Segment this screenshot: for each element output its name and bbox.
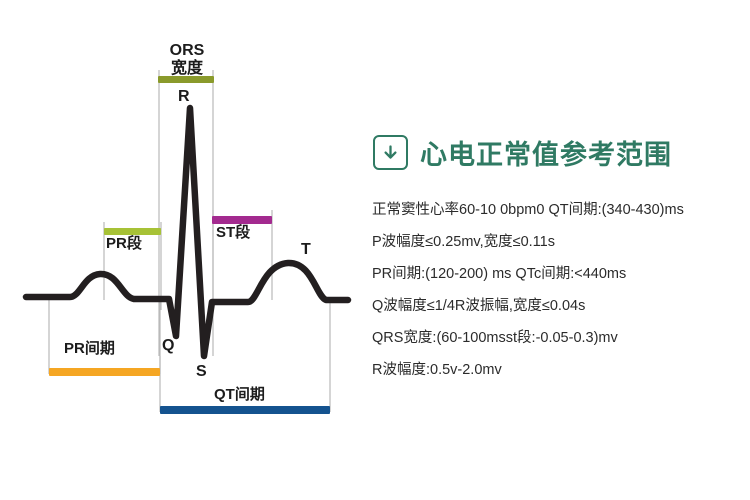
reference-value-line: 正常窦性心率60-10 0bpm0 QT间期:(340-430)ms: [372, 203, 747, 219]
qt-interval-label: QT间期: [214, 387, 265, 404]
qrs-width-label-line1: ORS: [162, 42, 212, 60]
reference-value-line: PR间期:(120-200) ms QTc间期:<440ms: [372, 267, 747, 283]
reference-value-line: QRS宽度:(60-100msst段:-0.05-0.3)mv: [372, 331, 747, 347]
reference-value-line: R波幅度:0.5v-2.0mv: [372, 363, 747, 379]
page-title: 心电正常值参考范围: [420, 133, 672, 172]
panel-title-row: 心电正常值参考范围: [373, 133, 672, 172]
wave-label-t: T: [301, 241, 311, 259]
wave-label-r: R: [178, 88, 190, 106]
pr-interval-bar: [49, 368, 160, 376]
qrs-width-label: ORS 宽度: [162, 42, 212, 78]
pr-interval-label: PR间期: [64, 341, 115, 358]
download-arrow-icon: [373, 135, 408, 170]
qt-interval-bar: [160, 406, 330, 414]
wave-label-q: Q: [162, 337, 174, 355]
ecg-reference-infographic: ORS 宽度 PR段 ST段 PR间期 QT间期 R Q S T 心电正常值参考…: [0, 0, 750, 500]
ecg-trace-path: [26, 108, 348, 356]
ecg-diagram-panel: ORS 宽度 PR段 ST段 PR间期 QT间期 R Q S T: [0, 0, 360, 500]
reference-values-panel: 心电正常值参考范围 正常窦性心率60-10 0bpm0 QT间期:(340-43…: [368, 0, 750, 500]
wave-label-s: S: [196, 363, 207, 381]
pr-segment-bar: [104, 228, 161, 235]
qrs-width-label-line2: 宽度: [162, 60, 212, 78]
reference-values-list: 正常窦性心率60-10 0bpm0 QT间期:(340-430)ms P波幅度≤…: [372, 203, 747, 395]
reference-value-line: Q波幅度≤1/4R波振幅,宽度≤0.04s: [372, 299, 747, 315]
st-segment-bar: [212, 216, 272, 224]
pr-segment-label: PR段: [106, 236, 142, 253]
reference-value-line: P波幅度≤0.25mv,宽度≤0.11s: [372, 235, 747, 251]
st-segment-label: ST段: [216, 225, 250, 242]
